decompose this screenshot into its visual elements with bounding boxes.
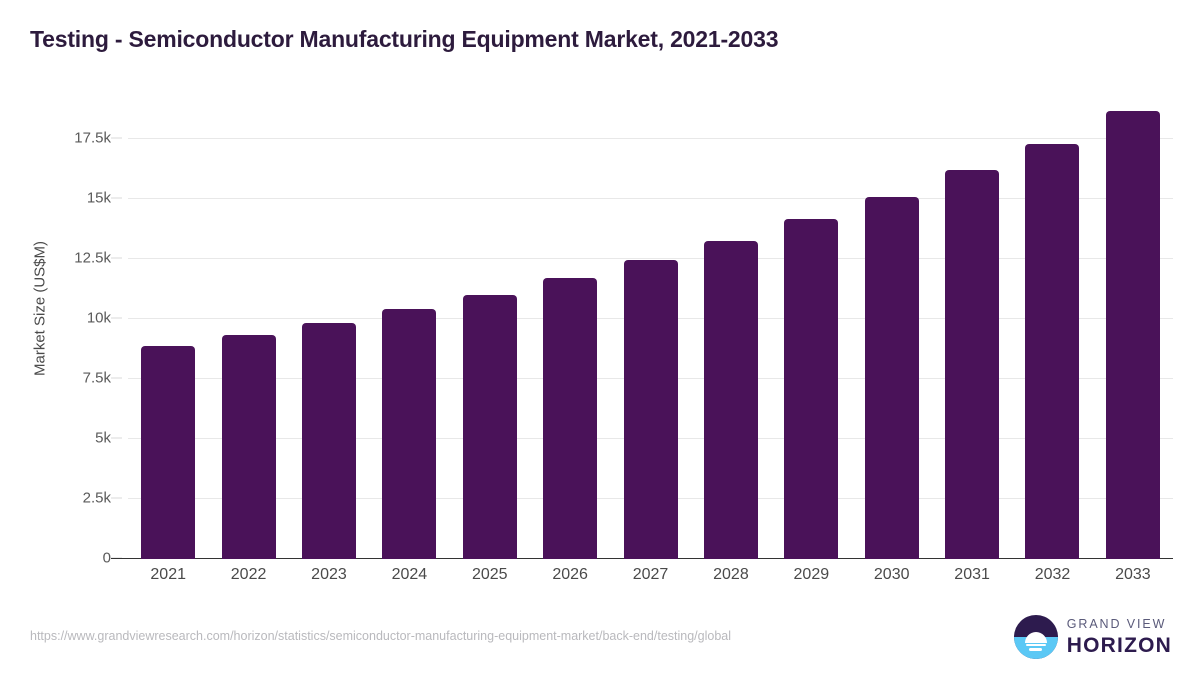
y-axis-tick-label: 12.5k (0, 250, 111, 267)
bar-2025[interactable] (463, 295, 517, 559)
bar-series (128, 100, 1173, 559)
x-axis-tick-label: 2021 (128, 566, 208, 584)
bar-2022[interactable] (222, 335, 276, 559)
y-axis-tick-mark (111, 318, 122, 319)
bar-slot (1093, 100, 1173, 559)
y-axis-tick-label: 10k (0, 310, 111, 327)
y-axis-tick-mark (111, 258, 122, 259)
bar-2021[interactable] (141, 346, 195, 559)
logo-ray-1 (1026, 644, 1046, 647)
y-axis-tick-label: 7.5k (0, 370, 111, 387)
bar-slot (771, 100, 851, 559)
logo-text: GRAND VIEW HORIZON (1067, 618, 1172, 656)
bar-slot (1012, 100, 1092, 559)
plot-area: 02.5k5k7.5k10k12.5k15k17.5k (128, 100, 1173, 559)
chart-page: Testing - Semiconductor Manufacturing Eq… (0, 0, 1200, 675)
plot-wrapper: Market Size (US$M) 02.5k5k7.5k10k12.5k15… (0, 0, 1200, 610)
x-axis-tick-label: 2026 (530, 566, 610, 584)
x-axis-tick-label: 2028 (691, 566, 771, 584)
y-axis-tick-mark (111, 438, 122, 439)
y-axis-tick-mark (111, 378, 122, 379)
bar-slot (128, 100, 208, 559)
y-axis-tick-label: 0 (0, 550, 111, 567)
logo-top-text: GRAND VIEW (1067, 618, 1172, 631)
bar-slot (852, 100, 932, 559)
y-axis-tick-label: 2.5k (0, 490, 111, 507)
brand-logo[interactable]: GRAND VIEW HORIZON (1014, 615, 1172, 659)
x-axis-tick-label: 2025 (450, 566, 530, 584)
y-axis-tick-mark (111, 498, 122, 499)
x-axis-ticks: 2021202220232024202520262027202820292030… (128, 566, 1173, 584)
x-axis-tick-label: 2033 (1093, 566, 1173, 584)
x-axis-tick-label: 2032 (1012, 566, 1092, 584)
bar-slot (289, 100, 369, 559)
bar-2023[interactable] (302, 323, 356, 559)
bar-2028[interactable] (704, 241, 758, 559)
bar-2027[interactable] (624, 260, 678, 559)
bar-slot (691, 100, 771, 559)
x-axis-tick-label: 2031 (932, 566, 1012, 584)
y-axis-tick-label: 17.5k (0, 130, 111, 147)
bar-slot (610, 100, 690, 559)
y-axis-tick-mark (111, 138, 122, 139)
x-axis-tick-label: 2024 (369, 566, 449, 584)
y-axis-tick-mark (111, 198, 122, 199)
logo-dome-shape (1025, 632, 1047, 643)
bar-slot (208, 100, 288, 559)
x-axis-tick-label: 2029 (771, 566, 851, 584)
logo-ray-2 (1029, 648, 1042, 651)
bar-slot (450, 100, 530, 559)
x-axis-tick-label: 2023 (289, 566, 369, 584)
bar-2030[interactable] (865, 197, 919, 559)
y-axis-tick-label: 5k (0, 430, 111, 447)
bar-2033[interactable] (1106, 111, 1160, 559)
logo-bottom-text: HORIZON (1067, 635, 1172, 656)
bar-slot (530, 100, 610, 559)
source-url[interactable]: https://www.grandviewresearch.com/horizo… (30, 629, 731, 643)
bar-2024[interactable] (382, 309, 436, 559)
bar-2026[interactable] (543, 278, 597, 559)
x-axis-tick-label: 2022 (208, 566, 288, 584)
bar-slot (369, 100, 449, 559)
horizon-sun-icon (1014, 615, 1058, 659)
bar-2031[interactable] (945, 170, 999, 559)
y-axis-tick-label: 15k (0, 190, 111, 207)
x-axis-tick-label: 2030 (852, 566, 932, 584)
bar-2032[interactable] (1025, 144, 1079, 559)
bar-slot (932, 100, 1012, 559)
bar-2029[interactable] (784, 219, 838, 559)
x-axis-tick-label: 2027 (610, 566, 690, 584)
